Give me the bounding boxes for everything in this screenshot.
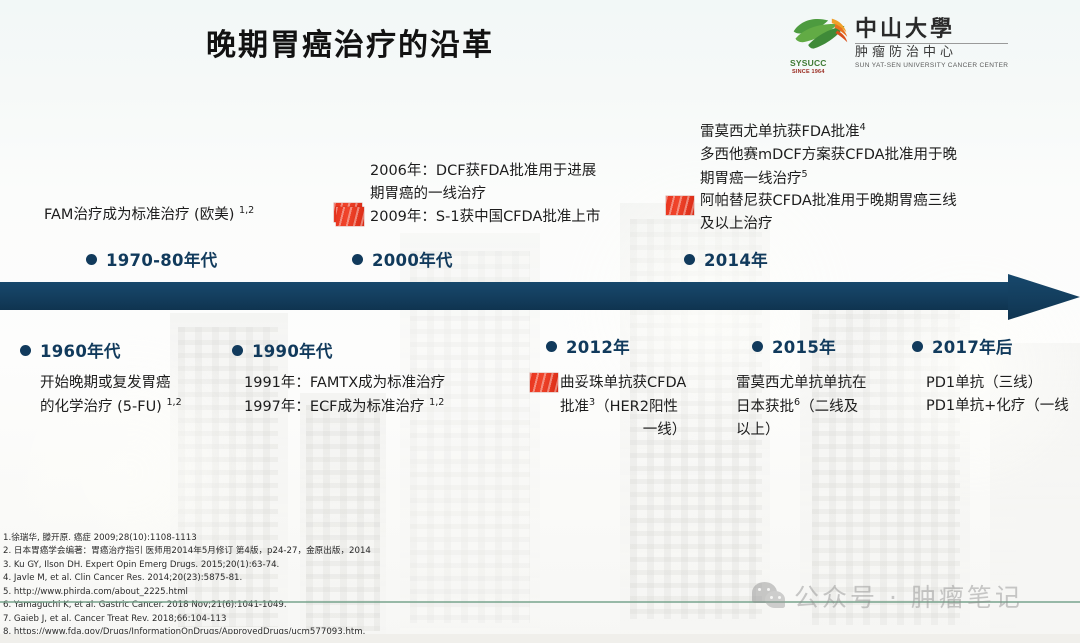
- era-label: 1960年代: [40, 338, 121, 362]
- era-marker-2017: 2017年后: [912, 334, 1013, 358]
- era-dot-icon: [86, 254, 97, 265]
- era-dot-icon: [684, 254, 695, 265]
- era-marker-2014: 2014年: [684, 247, 768, 271]
- era-label: 2017年后: [932, 334, 1013, 358]
- milestone-line: 雷莫西尤单抗单抗在: [736, 372, 867, 395]
- milestone-block-1970s: FAM治疗成为标准治疗 (欧美) 1,2: [44, 203, 254, 227]
- milestone-line: PD1单抗（三线）: [926, 372, 1069, 395]
- milestone-line: 批准3（HER2阳性: [560, 395, 686, 419]
- reference-item: 2. 日本胃癌学会编著：胃癌治疗指引 医师用2014年5月修订 第4版，p24-…: [3, 545, 563, 558]
- milestone-block-2017: PD1单抗（三线） PD1单抗+化疗（一线: [926, 372, 1069, 418]
- reference-item: 3. Ku GY, Ilson DH. Expert Opin Emerg Dr…: [3, 559, 563, 572]
- milestone-line: 期胃癌一线治疗5: [700, 167, 957, 191]
- reference-item: 7. Gaieb J, et al. Cancer Treat Rev. 201…: [3, 613, 563, 626]
- milestone-block-1990s: 1991年：FAMTX成为标准治疗 1997年：ECF成为标准治疗 1,2: [244, 372, 445, 419]
- slide-canvas: 晚期胃癌治疗的沿革 SYSUCC SINCE 1964 中山大學 肿瘤防治中心 …: [0, 0, 1080, 643]
- china-flag-icon: [530, 373, 558, 392]
- milestone-block-1960s: 开始晚期或复发胃癌 的化学治疗 (5-FU) 1,2: [40, 372, 182, 419]
- milestone-line: 1991年：FAMTX成为标准治疗: [244, 372, 445, 395]
- milestone-line: 多西他赛mDCF方案获CFDA批准用于晚: [700, 144, 957, 167]
- logo-org-unit-cn: 肿瘤防治中心: [855, 43, 1008, 62]
- milestone-line: 曲妥珠单抗获CFDA: [560, 372, 686, 395]
- milestone-line: 及以上治疗: [700, 213, 957, 236]
- milestone-block-2014: 雷莫西尤单抗获FDA批准4 多西他赛mDCF方案获CFDA批准用于晚 期胃癌一线…: [700, 120, 957, 236]
- era-dot-icon: [546, 341, 557, 352]
- era-marker-2012: 2012年: [546, 334, 630, 358]
- milestone-line: 一线）: [560, 419, 686, 442]
- china-flag-icon: [666, 196, 694, 215]
- era-dot-icon: [352, 254, 363, 265]
- logo-since-text: SINCE 1964: [792, 69, 825, 75]
- era-label: 1990年代: [252, 338, 333, 362]
- era-label: 2014年: [704, 247, 768, 271]
- era-marker-1990s: 1990年代: [232, 338, 333, 362]
- reference-item: 1.徐瑞华, 滕开原. 癌症 2009;28(10):1108-1113: [3, 532, 563, 545]
- milestone-line: 1997年：ECF成为标准治疗 1,2: [244, 395, 445, 419]
- milestone-line: 雷莫西尤单抗获FDA批准4: [700, 120, 957, 144]
- era-marker-2015: 2015年: [752, 334, 836, 358]
- wechat-icon: [752, 582, 786, 610]
- watermark-text: 公众号 · 肿瘤笔记: [794, 578, 1023, 614]
- milestone-line: 2006年：DCF获FDA批准用于进展: [370, 160, 600, 183]
- logo-org-name-cn: 中山大學: [855, 17, 1008, 42]
- milestone-line: FAM治疗成为标准治疗 (欧美) 1,2: [44, 203, 254, 227]
- reference-item: 5. http://www.phirda.com/about_2225.html: [3, 586, 563, 599]
- bottom-strip: [0, 634, 1080, 643]
- references-list: 1.徐瑞华, 滕开原. 癌症 2009;28(10):1108-1113 2. …: [3, 532, 563, 640]
- era-dot-icon: [20, 345, 31, 356]
- era-dot-icon: [232, 345, 243, 356]
- timeline-arrow-bar: [0, 282, 1010, 310]
- era-marker-2000s: 2000年代: [352, 247, 453, 271]
- logo-org-name-en: SUN YAT-SEN UNIVERSITY CANCER CENTER: [855, 62, 1008, 69]
- milestone-block-2015: 雷莫西尤单抗单抗在 日本获批6（二线及 以上）: [736, 372, 867, 442]
- milestone-line: 以上）: [736, 419, 867, 442]
- era-dot-icon: [752, 341, 763, 352]
- milestone-line: PD1单抗+化疗（一线: [926, 395, 1069, 418]
- milestone-block-2012: 曲妥珠单抗获CFDA 批准3（HER2阳性 一线）: [560, 372, 686, 442]
- milestone-line: 日本获批6（二线及: [736, 395, 867, 419]
- milestone-line: 阿帕替尼获CFDA批准用于晚期胃癌三线: [700, 190, 957, 213]
- organization-logo: SYSUCC SINCE 1964 中山大學 肿瘤防治中心 SUN YAT-SE…: [789, 14, 1021, 72]
- era-marker-1970s: 1970-80年代: [86, 247, 217, 271]
- era-marker-1960s: 1960年代: [20, 338, 121, 362]
- timeline-arrow-head-icon: [1008, 274, 1080, 320]
- era-label: 2015年: [772, 334, 836, 358]
- milestone-line: 开始晚期或复发胃癌: [40, 372, 182, 395]
- sysucc-logo-mark: SYSUCC SINCE 1964: [789, 15, 851, 71]
- era-label: 1970-80年代: [106, 247, 217, 271]
- milestone-line: 的化学治疗 (5-FU) 1,2: [40, 395, 182, 419]
- era-label: 2000年代: [372, 247, 453, 271]
- milestone-block-2000s: 2006年：DCF获FDA批准用于进展 期胃癌的一线治疗 2009年：S-1获中…: [370, 160, 600, 229]
- timeline-arrow: [0, 274, 1080, 320]
- era-label: 2012年: [566, 334, 630, 358]
- milestone-line: 期胃癌的一线治疗: [370, 183, 600, 206]
- milestone-line: 2009年：S-1获中国CFDA批准上市: [370, 206, 600, 229]
- reference-item: 4. Javle M, et al. Clin Cancer Res. 2014…: [3, 572, 563, 585]
- logo-sysucc-text: SYSUCC: [790, 58, 827, 68]
- china-flag-icon: [336, 207, 364, 226]
- page-title: 晚期胃癌治疗的沿革: [0, 20, 700, 64]
- era-dot-icon: [912, 341, 923, 352]
- wechat-watermark: 公众号 · 肿瘤笔记: [752, 578, 1023, 614]
